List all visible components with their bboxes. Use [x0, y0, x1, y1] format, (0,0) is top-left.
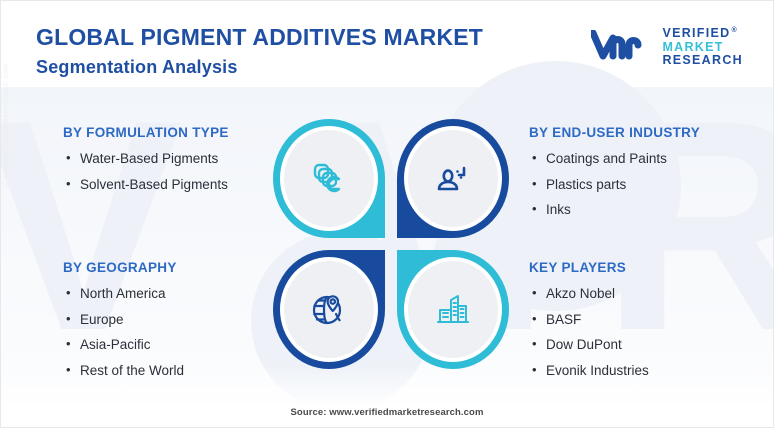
list-item: Europe — [63, 310, 268, 331]
list-item: Dow DuPont — [529, 335, 754, 356]
list-item: Water-Based Pigments — [63, 149, 268, 170]
list-item: Rest of the World — [63, 361, 268, 382]
section-list-formulation: Water-Based Pigments Solvent-Based Pigme… — [63, 149, 268, 195]
list-item: Asia-Pacific — [63, 335, 268, 356]
page-subtitle: Segmentation Analysis — [36, 57, 483, 78]
quadrant-key-players — [397, 250, 509, 369]
list-item: Akzo Nobel — [529, 284, 754, 305]
section-list-key-players: Akzo Nobel BASF Dow DuPont Evonik Indust… — [529, 284, 754, 381]
icon-disc-geography — [280, 257, 378, 362]
logo-wordmark: VERIFIED® MARKET RESEARCH — [662, 27, 743, 68]
icon-disc-formulation — [280, 126, 378, 231]
section-title-geography: BY GEOGRAPHY — [63, 260, 268, 275]
source-footer: Source: www.verifiedmarketresearch.com — [1, 407, 773, 418]
section-list-end-user: Coatings and Paints Plastics parts Inks — [529, 149, 754, 221]
section-title-formulation: BY FORMULATION TYPE — [63, 125, 268, 140]
quadrant-end-user — [397, 119, 509, 238]
icon-disc-end-user — [404, 126, 502, 231]
logo-line-verified: VERIFIED® — [662, 27, 743, 41]
logo-line-research: RESEARCH — [662, 54, 743, 68]
layers-icon — [308, 158, 350, 200]
icon-disc-key-players — [404, 257, 502, 362]
list-item: North America — [63, 284, 268, 305]
section-end-user: BY END-USER INDUSTRY Coatings and Paints… — [529, 125, 754, 226]
list-item: Plastics parts — [529, 175, 754, 196]
segmentation-quadrant-hub — [273, 119, 511, 369]
user-profile-icon — [432, 158, 474, 200]
page-title: GLOBAL PIGMENT ADDITIVES MARKET — [36, 25, 483, 50]
side-watermark-text: © www.verifiedmarketresearch.com — [3, 17, 10, 187]
globe-pin-icon — [308, 289, 350, 331]
list-item: Coatings and Paints — [529, 149, 754, 170]
logo-line-market: MARKET — [662, 41, 743, 55]
section-title-key-players: KEY PLAYERS — [529, 260, 754, 275]
list-item: Inks — [529, 200, 754, 221]
section-list-geography: North America Europe Asia-Pacific Rest o… — [63, 284, 268, 381]
infographic-canvas: V M R © www.verifiedmarketresearch.com G… — [0, 0, 774, 428]
quadrant-geography — [273, 250, 385, 369]
buildings-icon — [432, 289, 474, 331]
section-geography: BY GEOGRAPHY North America Europe Asia-P… — [63, 260, 268, 386]
list-item: Solvent-Based Pigments — [63, 175, 268, 196]
list-item: Evonik Industries — [529, 361, 754, 382]
section-title-end-user: BY END-USER INDUSTRY — [529, 125, 754, 140]
registered-mark-icon: ® — [732, 27, 738, 34]
vmr-logo-mark-icon — [591, 30, 653, 65]
section-key-players: KEY PLAYERS Akzo Nobel BASF Dow DuPont E… — [529, 260, 754, 386]
verified-market-research-logo: VERIFIED® MARKET RESEARCH — [591, 27, 743, 68]
quadrant-formulation — [273, 119, 385, 238]
section-formulation: BY FORMULATION TYPE Water-Based Pigments… — [63, 125, 268, 200]
list-item: BASF — [529, 310, 754, 331]
header: GLOBAL PIGMENT ADDITIVES MARKET Segmenta… — [36, 25, 483, 78]
